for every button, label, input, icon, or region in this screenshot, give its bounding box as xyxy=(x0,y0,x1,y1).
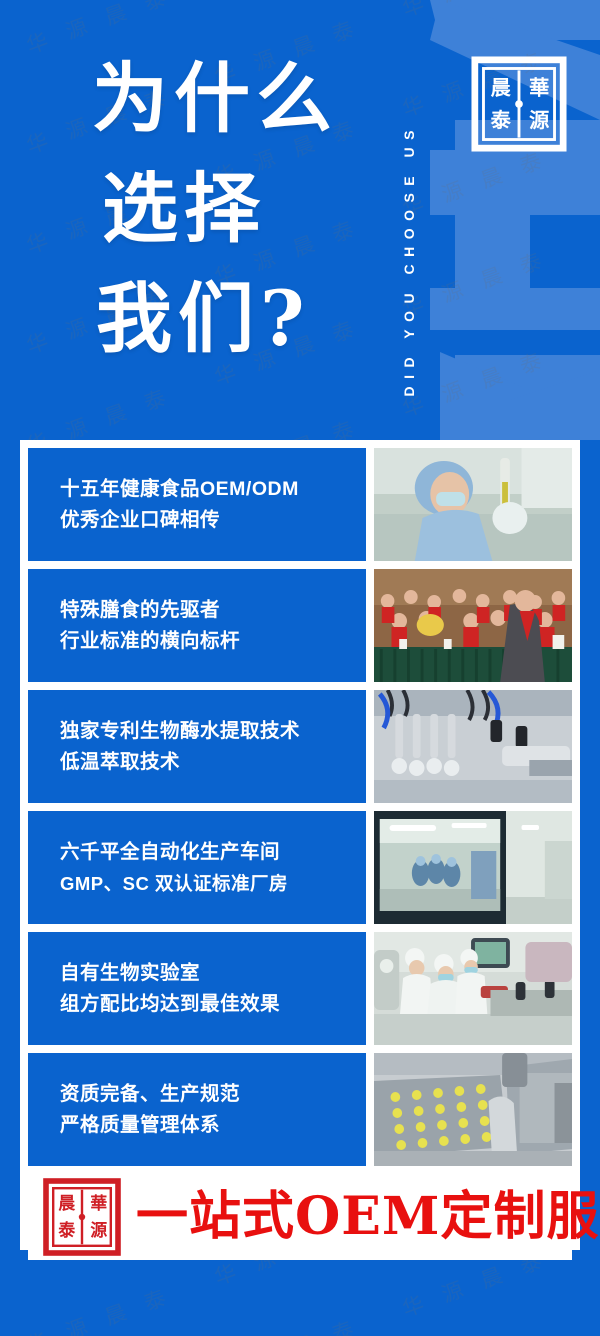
svg-text:源: 源 xyxy=(529,108,549,132)
watermark-text: 华 源 晨 泰 xyxy=(22,1280,176,1336)
svg-text:晨: 晨 xyxy=(491,75,512,99)
feature-line-1: 十五年健康食品OEM/ODM xyxy=(60,474,366,505)
feature-photo-lab-technician-inspecting-vial xyxy=(374,448,572,561)
watermark-text: 华 源 晨 泰 xyxy=(398,0,552,23)
title-line-2: 选择 xyxy=(92,154,392,264)
feature-text-card: 资质完备、生产规范 严格质量管理体系 xyxy=(28,1053,366,1166)
slogan-text: 一站式OEM定制服务 xyxy=(128,1191,600,1243)
feature-text-card: 独家专利生物酶水提取技术 低温萃取技术 xyxy=(28,690,366,803)
page-title: 为什么 选择 我们? xyxy=(92,44,392,374)
feature-line-2: GMP、SC 双认证标准厂房 xyxy=(60,868,366,899)
features-panel: 十五年健康食品OEM/ODM 优秀企业口碑相传 xyxy=(20,440,580,1250)
feature-photo-cleanroom-workshop-through-glass xyxy=(374,811,572,924)
title-line-1: 为什么 xyxy=(92,44,392,154)
feature-line-1: 资质完备、生产规范 xyxy=(60,1079,366,1110)
feature-line-2: 行业标准的横向标杆 xyxy=(60,626,366,657)
vertical-english-text: DID YOU CHOOSE US xyxy=(401,123,417,397)
svg-text:華: 華 xyxy=(90,1193,107,1213)
vertical-english-caption: DID YOU CHOOSE US xyxy=(396,24,422,396)
feature-line-2: 组方配比均达到最佳效果 xyxy=(60,989,366,1020)
feature-row[interactable]: 十五年健康食品OEM/ODM 优秀企业口碑相传 xyxy=(28,448,572,561)
feature-row[interactable]: 特殊膳食的先驱者 行业标准的横向标杆 xyxy=(28,569,572,682)
feature-line-2: 优秀企业口碑相传 xyxy=(60,505,366,536)
feature-text-card: 十五年健康食品OEM/ODM 优秀企业口碑相传 xyxy=(28,448,366,561)
features-list: 十五年健康食品OEM/ODM 优秀企业口碑相传 xyxy=(28,448,572,1166)
brand-seal-white-icon: 晨 華 泰 源 xyxy=(471,56,567,152)
slogan-bar: 晨 華 泰 源 一站式OEM定制服务 xyxy=(28,1174,572,1260)
feature-photo-conference-audience-red-scarves xyxy=(374,569,572,682)
feature-line-1: 自有生物实验室 xyxy=(60,958,366,989)
feature-line-2: 低温萃取技术 xyxy=(60,747,366,778)
brand-seal-red-icon: 晨 華 泰 源 xyxy=(42,1177,128,1257)
feature-row[interactable]: 六千平全自动化生产车间 GMP、SC 双认证标准厂房 xyxy=(28,811,572,924)
svg-text:晨: 晨 xyxy=(58,1193,75,1213)
title-line-3: 我们? xyxy=(92,264,392,374)
feature-line-1: 独家专利生物酶水提取技术 xyxy=(60,716,366,747)
feature-text-card: 自有生物实验室 组方配比均达到最佳效果 xyxy=(28,932,366,1045)
feature-line-1: 六千平全自动化生产车间 xyxy=(60,837,366,868)
feature-photo-automated-filling-machine-nozzles xyxy=(374,690,572,803)
svg-text:源: 源 xyxy=(90,1220,107,1240)
feature-line-2: 严格质量管理体系 xyxy=(60,1110,366,1141)
feature-photo-technicians-at-production-line xyxy=(374,932,572,1045)
feature-row[interactable]: 资质完备、生产规范 严格质量管理体系 xyxy=(28,1053,572,1166)
svg-text:泰: 泰 xyxy=(491,108,512,132)
feature-photo-tablet-blister-packaging-machine xyxy=(374,1053,572,1166)
watermark-text: 华 源 晨 泰 xyxy=(210,1311,364,1336)
feature-text-card: 六千平全自动化生产车间 GMP、SC 双认证标准厂房 xyxy=(28,811,366,924)
feature-row[interactable]: 自有生物实验室 组方配比均达到最佳效果 xyxy=(28,932,572,1045)
svg-text:泰: 泰 xyxy=(57,1220,75,1240)
poster-root: 华 源 晨 泰华 源 晨 泰华 源 晨 泰 华 源 晨 泰华 源 晨 泰华 源 … xyxy=(0,0,600,1336)
feature-line-1: 特殊膳食的先驱者 xyxy=(60,595,366,626)
feature-text-card: 特殊膳食的先驱者 行业标准的横向标杆 xyxy=(28,569,366,682)
feature-row[interactable]: 独家专利生物酶水提取技术 低温萃取技术 xyxy=(28,690,572,803)
svg-text:華: 華 xyxy=(529,75,549,99)
